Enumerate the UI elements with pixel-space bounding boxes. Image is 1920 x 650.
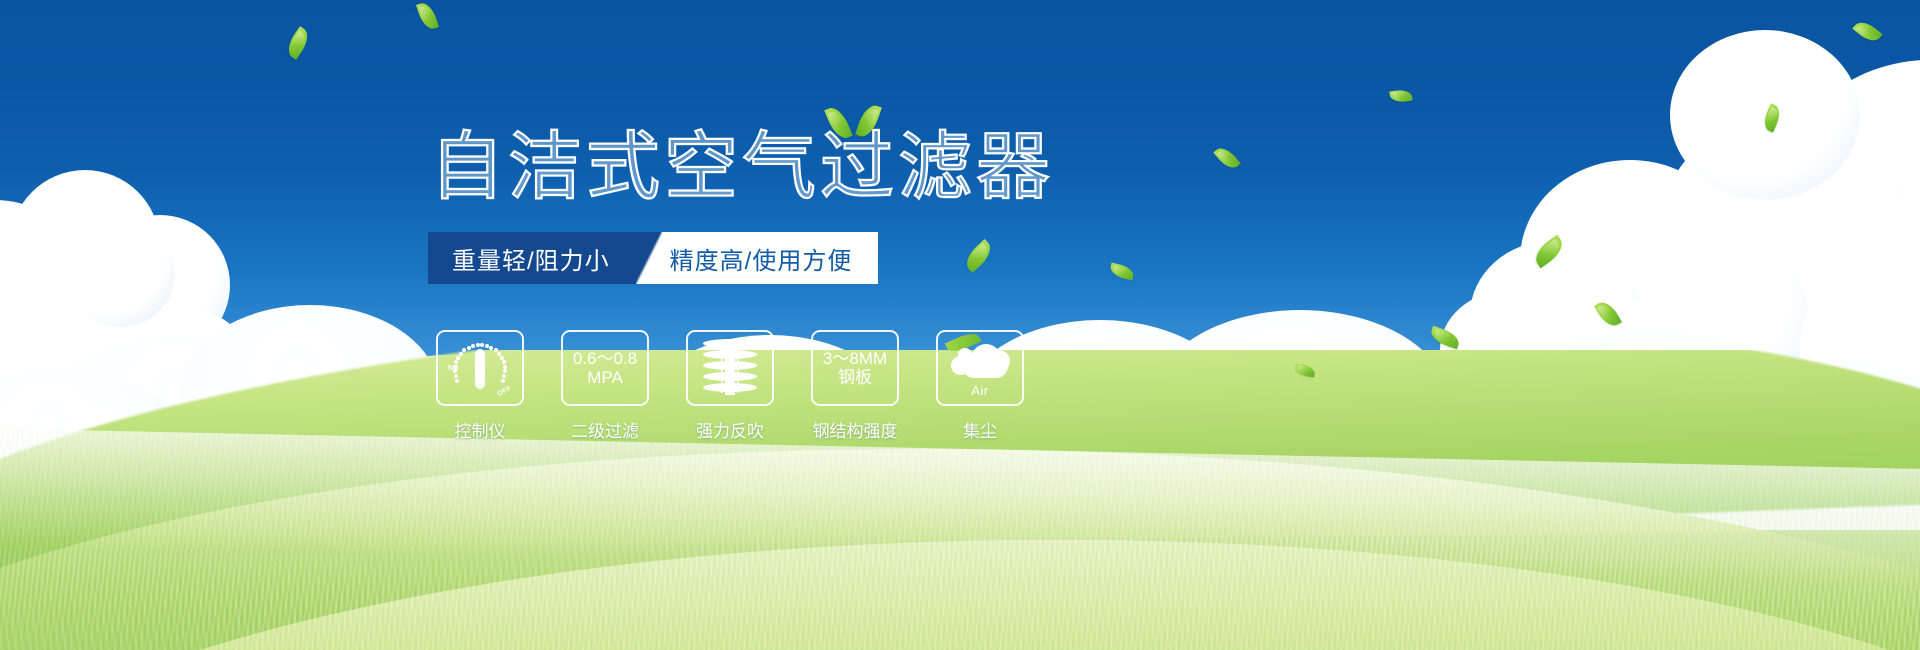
gauge-tick: [459, 352, 463, 356]
feature-icon-box: NO OFF: [436, 330, 524, 406]
steel-thickness-text: 3～8MM: [823, 349, 887, 368]
coil-ring: [703, 383, 757, 392]
gauge-tick: [501, 379, 505, 383]
air-cloud-icon: Air: [948, 342, 1012, 394]
air-label: Air: [948, 383, 1012, 398]
gauge-tick: [497, 352, 501, 356]
feature-list: NO OFF 控制仪 0.6～0.8 MPA 二级过滤: [434, 330, 1026, 442]
gauge-tick: [455, 379, 459, 383]
pressure-range-text: 0.6～0.8: [573, 349, 637, 368]
gauge-tick: [502, 374, 506, 378]
gauge-tick: [453, 369, 457, 373]
title-block: 自洁式空气过滤器: [430, 130, 1054, 204]
gauge-tick: [454, 360, 458, 364]
gauge-tick: [485, 344, 489, 348]
gauge-needle: [475, 349, 485, 389]
gauge-tick: [500, 356, 504, 360]
feature-item-steel[interactable]: 3～8MM 钢板 钢结构强度: [809, 330, 901, 442]
feature-icon-box: 0.6～0.8 MPA: [561, 330, 649, 406]
filter-coil-icon: [703, 339, 757, 397]
gauge-tick: [489, 346, 493, 350]
gauge-tick: [454, 374, 458, 378]
gauge-tick: [453, 365, 457, 369]
feature-item-filtration[interactable]: 0.6～0.8 MPA 二级过滤: [559, 330, 651, 442]
coil-ring: [703, 339, 757, 348]
subtitle-left-text: 重量轻/阻力小: [428, 232, 636, 284]
gauge-tick: [502, 360, 506, 364]
feature-label: 控制仪: [455, 417, 506, 442]
banner-hero: 自洁式空气过滤器 重量轻/阻力小 精度高/使用方便 NO OFF 控制仪: [0, 0, 1920, 650]
gauge-tick: [503, 365, 507, 369]
gauge-tick: [456, 356, 460, 360]
banner-content: 自洁式空气过滤器 重量轻/阻力小 精度高/使用方便 NO OFF 控制仪: [0, 0, 1920, 650]
steel-material-text: 钢板: [838, 368, 872, 387]
cloud-body: [962, 352, 1008, 378]
gauge-tick: [462, 348, 466, 352]
subtitle-right-text: 精度高/使用方便: [662, 232, 879, 284]
subtitle-bar: 重量轻/阻力小 精度高/使用方便: [428, 232, 878, 284]
feature-item-backblow[interactable]: 强力反吹: [684, 330, 776, 442]
feature-icon-box: [686, 330, 774, 406]
feature-item-dust[interactable]: Air 集尘: [934, 330, 1026, 442]
control-dial-icon: NO OFF: [449, 340, 511, 396]
coil-ring: [703, 361, 757, 370]
gauge-max-label: OFF: [496, 385, 512, 398]
pressure-unit-text: MPA: [587, 368, 623, 387]
feature-label: 二级过滤: [571, 417, 639, 442]
page-title: 自洁式空气过滤器: [430, 130, 1054, 204]
coil-ring: [703, 350, 757, 359]
gauge-tick: [503, 369, 507, 373]
feature-icon-box: 3～8MM 钢板: [811, 330, 899, 406]
subtitle-separator-slash: [636, 232, 662, 284]
gauge-tick: [476, 343, 480, 347]
coil-ring: [703, 372, 757, 381]
feature-label: 强力反吹: [696, 417, 764, 442]
feature-label: 集尘: [963, 417, 997, 442]
feature-item-controller[interactable]: NO OFF 控制仪: [434, 330, 526, 442]
gauge-tick: [467, 346, 471, 350]
feature-label: 钢结构强度: [813, 417, 898, 442]
gauge-tick: [471, 344, 475, 348]
gauge-tick: [480, 343, 484, 347]
feature-icon-box: Air: [936, 330, 1024, 406]
